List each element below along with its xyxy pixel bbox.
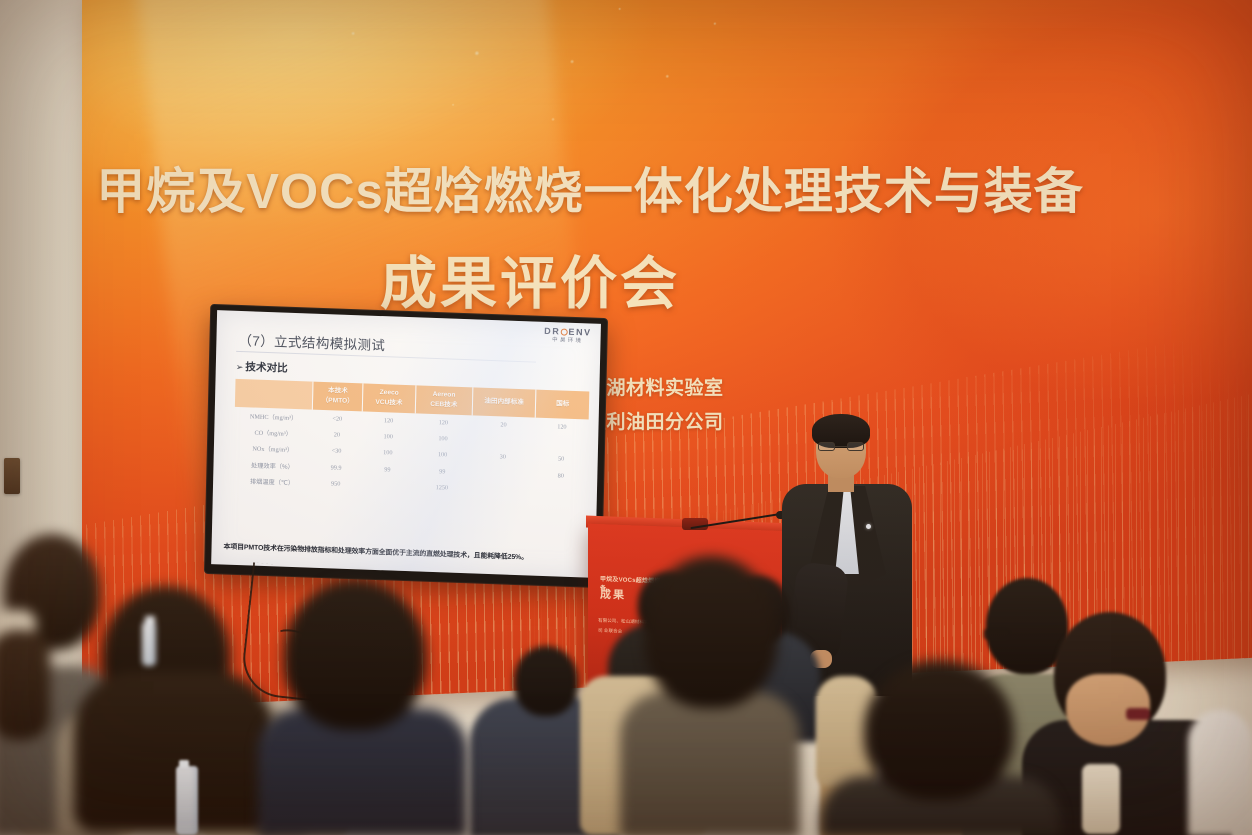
row-1-col-2: 100 [361, 428, 414, 446]
header-3-line2: CEB技术 [417, 400, 471, 412]
table-header-cell-5: 国标 [536, 390, 590, 420]
row-1-col-1: 20 [312, 426, 362, 444]
long-hair [74, 672, 274, 832]
row-4-label: 排烟温度（℃） [233, 472, 311, 491]
audience-member-far-right [1188, 676, 1252, 835]
glasses-lens-left [818, 442, 835, 451]
bottle-cap [179, 760, 189, 768]
table-header-cell-2: Zeeco VCU技术 [362, 383, 416, 413]
person-body [620, 692, 800, 835]
person-head [864, 660, 1014, 800]
row-1-col-3: 100 [415, 430, 472, 448]
row-0-col-1: <20 [312, 410, 362, 428]
header-1-line2: （PMTO） [314, 396, 361, 408]
table-header-cell-0 [235, 379, 314, 410]
presenter-glasses [818, 442, 864, 451]
glasses-bridge [835, 446, 847, 447]
audience-member-foreground-man-right [620, 556, 800, 835]
header-5-line1: 国标 [556, 400, 569, 407]
microphone [690, 512, 786, 526]
slide-title: （7）立式结构模拟测试 [238, 329, 385, 354]
logo-text-left: DR [544, 326, 560, 337]
logo-ring-icon [561, 328, 568, 335]
slide-conclusion-note: 本项目PMTO技术在污染物排放指标和处理效率方面全面优于主流的直燃处理技术，且能… [223, 544, 587, 566]
row-0-col-3: 120 [415, 414, 472, 432]
row-2-col-3: 100 [414, 446, 471, 464]
row-4-col-4 [470, 481, 534, 499]
row-2-col-1: <30 [312, 442, 362, 460]
table-body: NMHC（mg/m³） <20 120 120 20 120 CO（mg/m³）… [233, 407, 589, 501]
person-glasses [984, 628, 1010, 640]
row-1-col-5 [535, 434, 588, 452]
presenter-lapel-pin [866, 524, 871, 529]
row-3-col-5: 80 [534, 467, 587, 485]
header-1-line1: 本技术 [328, 387, 348, 395]
technology-comparison-table: 本技术 （PMTO） Zeeco VCU技术 Aereon CEB技术 油田 [233, 379, 589, 501]
row-0-col-2: 120 [362, 412, 415, 430]
presentation-display: DRENV 中昊环境 （7）立式结构模拟测试 ➢技术对比 本技术 [205, 305, 607, 587]
person-body [1188, 710, 1252, 835]
conference-photo-scene: 甲烷及VOCs超焓燃烧一体化处理技术与装备 成果评价会 有限公司、松山湖材料实验… [0, 0, 1252, 835]
logo-wordmark: DRENV [544, 327, 592, 338]
logo-text-right: ENV [568, 327, 592, 338]
ponytail [0, 630, 50, 740]
bullet-arrow-icon: ➢ [236, 362, 244, 372]
person-scarf [1082, 764, 1120, 834]
row-2-col-2: 100 [361, 444, 414, 462]
slide-section-label: 技术对比 [245, 361, 288, 375]
header-2-line1: Zeeco [380, 389, 399, 397]
row-3-col-2: 99 [361, 460, 414, 478]
water-bottle-foreground-left [176, 766, 198, 835]
row-4-col-3: 1250 [413, 478, 470, 496]
person-head [514, 646, 578, 716]
banner-title: 甲烷及VOCs超焓燃烧一体化处理技术与装备 [40, 152, 1140, 223]
table-header-cell-3: Aereon CEB技术 [415, 385, 472, 415]
bottle-cap [145, 616, 155, 624]
table-header-cell-4: 油田内部标准 [472, 387, 536, 418]
logo-chinese-name: 中昊环境 [544, 338, 592, 345]
person-head [284, 580, 426, 730]
audience-member-foreground-center-head [258, 580, 468, 835]
audience-member-foreground-man-center [820, 660, 1060, 835]
row-4-col-1: 950 [311, 475, 361, 493]
row-4-col-2 [360, 477, 413, 495]
banner-subtitle: 成果评价会 [40, 238, 1020, 320]
table-header-cell-1: 本技术 （PMTO） [313, 382, 363, 412]
header-4-line1: 油田内部标准 [484, 398, 524, 406]
row-2-col-5: 50 [534, 450, 587, 468]
row-0-col-5: 120 [535, 418, 588, 436]
dr-env-logo: DRENV 中昊环境 [544, 327, 592, 345]
person-head [644, 556, 778, 708]
header-0-line2 [236, 393, 311, 396]
row-3-col-3: 99 [414, 462, 471, 480]
header-3-line1: Aereon [433, 391, 456, 399]
slide-section-heading: ➢技术对比 [236, 359, 288, 376]
person-watch [1126, 708, 1150, 720]
glasses-lens-right [847, 442, 864, 451]
slide-screen: DRENV 中昊环境 （7）立式结构模拟测试 ➢技术对比 本技术 [211, 310, 601, 578]
row-4-col-5 [534, 483, 587, 501]
header-2-line2: VCU技术 [364, 398, 414, 410]
water-bottle-mid-left [142, 622, 156, 666]
row-3-col-1: 99.9 [311, 459, 361, 477]
